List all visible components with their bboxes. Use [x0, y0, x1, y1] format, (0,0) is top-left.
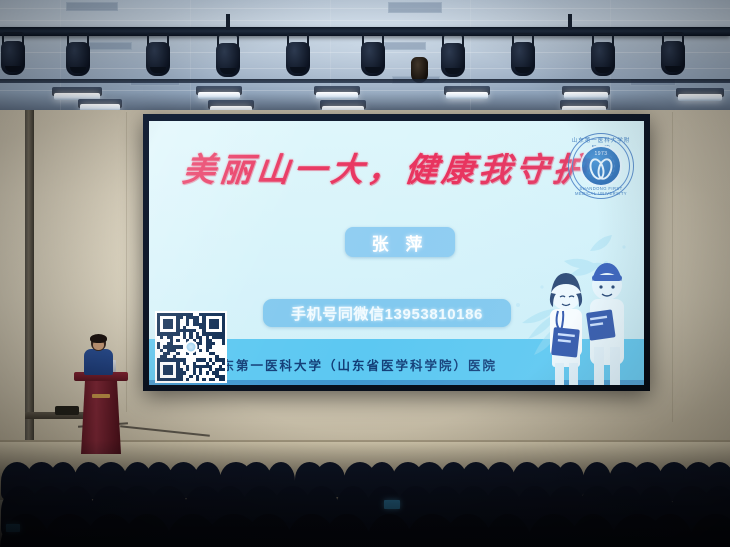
wall-seam	[126, 112, 127, 412]
organization-name: 山东第一医科大学（山东省医学科学院）医院	[207, 355, 497, 374]
female-nurse-figure	[550, 273, 582, 385]
audience-member	[484, 514, 532, 547]
fluorescent-tube	[446, 92, 488, 99]
ceiling-seam	[60, 0, 61, 118]
slide-title: 美丽山一大，健康我守护	[180, 143, 555, 191]
speaker-name-badge: 张 萍	[345, 227, 455, 257]
stage-light	[285, 33, 311, 77]
stage-light	[215, 34, 241, 78]
ceiling-vent	[66, 2, 118, 11]
fluorescent-tube	[316, 92, 358, 99]
wall-pillar	[25, 110, 34, 442]
ceiling-seam	[470, 0, 471, 118]
university-seal-icon: 山东第一医科大学附属医院 SHANDONG FIRST MEDICAL UNIV…	[568, 133, 634, 199]
contact-text: 手机号同微信13953810186	[291, 303, 483, 324]
projection-screen-frame: 美丽山一大，健康我守护 山东第一医科大学附属医院 SHANDONG FIRST …	[143, 114, 650, 391]
seal-english-text: SHANDONG FIRST MEDICAL UNIVERSITY	[569, 186, 633, 196]
medical-staff-illustration	[494, 235, 644, 385]
ceiling-pipe	[0, 79, 730, 83]
presentation-slide: 美丽山一大，健康我守护 山东第一医科大学附属医院 SHANDONG FIRST …	[149, 121, 644, 385]
audience-seating	[0, 440, 730, 547]
stage-light	[410, 48, 428, 80]
ceiling-panel-line	[0, 20, 730, 21]
ceiling-panel-line	[0, 90, 730, 91]
stage-light	[660, 32, 686, 76]
seal-emblem-icon	[590, 158, 612, 178]
floor-equipment-box	[55, 406, 79, 415]
audience-row	[0, 440, 730, 547]
seal-year: 1973	[582, 151, 620, 157]
podium-nameplate	[92, 394, 110, 398]
illustration-svg	[494, 235, 644, 385]
phone-screen-glow	[384, 500, 400, 509]
contact-badge: 手机号同微信13953810186	[263, 299, 511, 327]
ceiling-vent	[388, 2, 442, 13]
truss-dropper	[568, 14, 572, 30]
fluorescent-tube	[678, 94, 722, 101]
ceiling	[0, 0, 730, 118]
ceiling-vent	[88, 42, 132, 50]
phone-screen-glow	[6, 524, 20, 532]
audience-member	[322, 514, 372, 547]
fluorescent-tube	[564, 92, 608, 99]
stage-light	[590, 33, 616, 77]
stage-light	[360, 33, 386, 77]
projection-screen[interactable]: 美丽山一大，健康我守护 山东第一医科大学附属医院 SHANDONG FIRST …	[149, 121, 644, 385]
truss-dropper	[226, 14, 230, 30]
presenter	[79, 335, 117, 375]
qr-center-logo	[185, 341, 198, 354]
stage-light	[65, 33, 91, 77]
stage-light	[440, 34, 466, 78]
auditorium-scene: 美丽山一大，健康我守护 山东第一医科大学附属医院 SHANDONG FIRST …	[0, 0, 730, 547]
wall-seam	[672, 112, 673, 422]
stage-light	[145, 33, 171, 77]
stage-light	[510, 33, 536, 77]
audience-member	[688, 514, 730, 547]
male-doctor-figure	[586, 263, 624, 385]
ceiling-seam	[190, 0, 191, 118]
qr-code[interactable]	[155, 311, 227, 383]
speaker-name-text: 张 萍	[372, 230, 429, 255]
fluorescent-tube	[198, 92, 240, 99]
stage-light	[0, 32, 26, 76]
